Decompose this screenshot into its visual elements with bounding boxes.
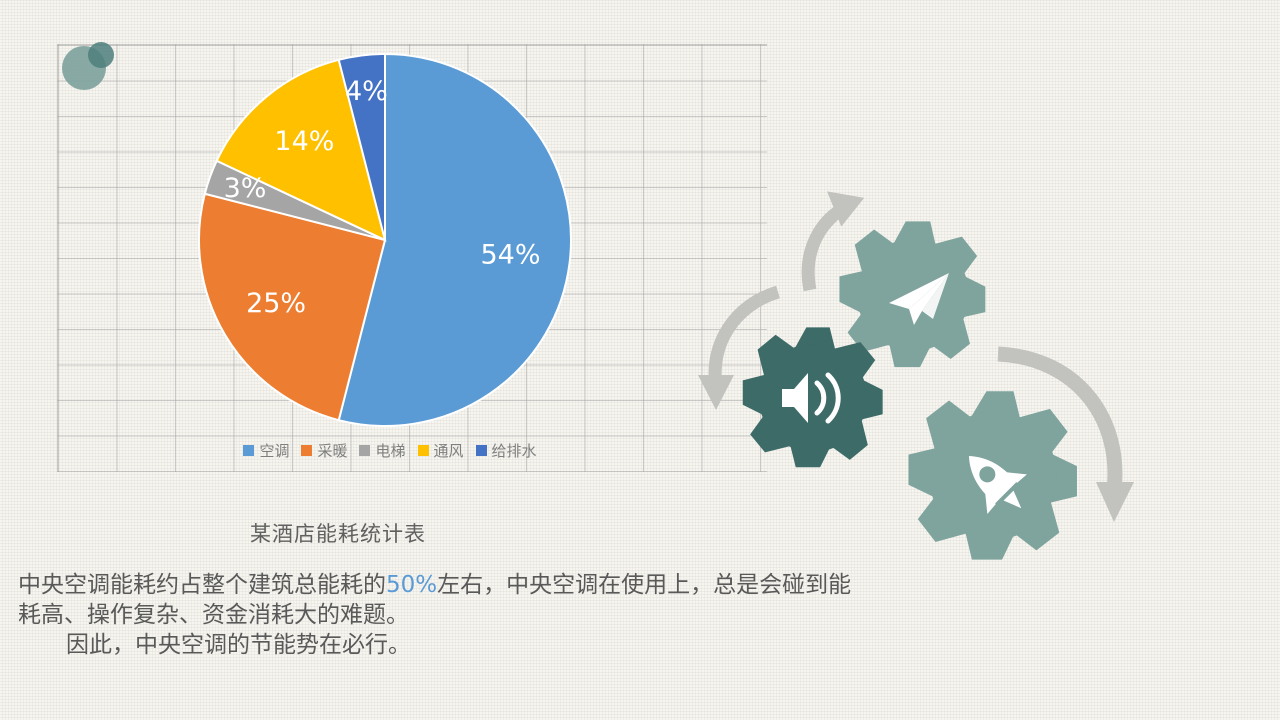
pie-label-电梯: 3% [224,173,267,204]
gears-svg [690,170,1140,570]
pie-chart[interactable]: 54%25%3%14%4% [193,48,577,432]
body-paragraph: 中央空调能耗约占整个建筑总能耗的50%左右，中央空调在使用上，总是会碰到能耗高、… [18,570,868,660]
legend-label: 通风 [434,440,464,461]
pie-chart-svg: 54%25%3%14%4% [193,48,577,432]
body-text-highlight: 50% [386,572,437,598]
pie-label-空调: 54% [480,239,540,270]
slide-canvas: 54%25%3%14%4% 空调采暖电梯通风给排水 某酒店能耗统计表 中央空调能… [0,0,1280,720]
legend-item-给排水[interactable]: 给排水 [476,440,537,461]
chart-title: 某酒店能耗统计表 [250,518,426,548]
legend-label: 电梯 [375,440,405,461]
legend-label: 给排水 [492,440,537,461]
legend-label: 采暖 [317,440,347,461]
legend-item-通风[interactable]: 通风 [418,440,464,461]
decorative-circle-small [88,42,114,68]
legend-swatch-icon [301,445,312,456]
pie-label-采暖: 25% [246,288,306,319]
gear-rocket [908,391,1076,559]
pie-label-给排水: 4% [345,76,388,107]
gears-illustration [690,170,1140,570]
legend-item-采暖[interactable]: 采暖 [301,440,347,461]
legend-label: 空调 [259,440,289,461]
pie-label-通风: 14% [274,126,334,157]
body-text-part-1: 中央空调能耗约占整个建筑总能耗的 [18,572,386,598]
legend-swatch-icon [418,445,429,456]
legend-swatch-icon [359,445,370,456]
legend-swatch-icon [243,445,254,456]
decorative-circles [62,42,114,92]
gear-speaker [743,327,883,467]
legend-item-空调[interactable]: 空调 [243,440,289,461]
chart-legend: 空调采暖电梯通风给排水 [200,440,580,461]
legend-swatch-icon [476,445,487,456]
body-text-part-3: 因此，中央空调的节能势在必行。 [18,630,868,660]
legend-item-电梯[interactable]: 电梯 [359,440,405,461]
